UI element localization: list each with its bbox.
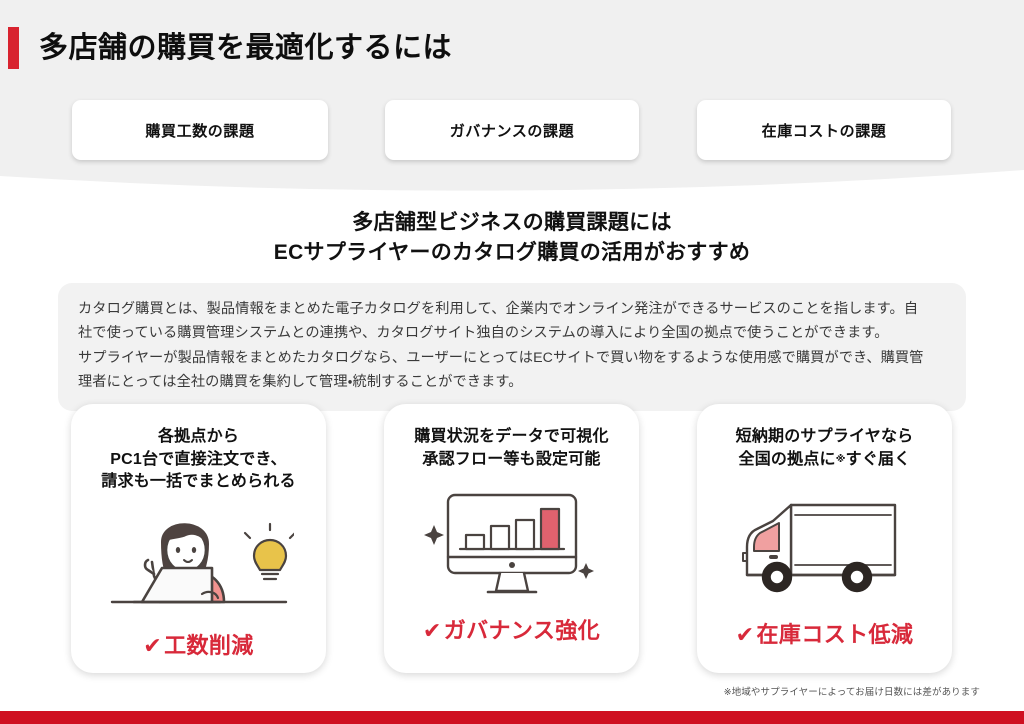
card-heading: 各拠点から PC1台で直接注文でき、 請求も一括でまとめられる — [71, 426, 326, 494]
description-panel: カタログ購買とは、製品情報をまとめた電子カタログを利用して、企業内でオンライン発… — [58, 283, 966, 411]
delivery-truck-icon — [735, 491, 915, 603]
card-footer-label: ガバナンス強化 — [444, 618, 600, 643]
description-line-3: サプライヤーが製品情報をまとめたカタログなら、ユーザーにとってはECサイトで買い… — [78, 346, 946, 370]
footnote-text: ※地域やサプライヤーによってお届け日数には差があります — [724, 684, 980, 698]
page-title: 多店舗の購買を最適化するには — [39, 34, 452, 63]
description-text: カタログ購買とは、製品情報をまとめた電子カタログを利用して、企業内でオンライン発… — [78, 297, 946, 395]
red-accent-bar-icon — [8, 27, 19, 69]
benefit-card-governance[interactable]: 購買状況をデータで可視化 承認フロー等も設定可能 — [384, 404, 639, 673]
card-footer-result: ✔ガバナンス強化 — [384, 613, 639, 645]
page-header: 多店舗の購買を最適化するには — [0, 26, 452, 70]
slide-root: 多店舗の購買を最適化するには 購買工数の課題 ガバナンスの課題 在庫コストの課題… — [0, 0, 1024, 724]
pill-label: 在庫コストの課題 — [762, 120, 887, 141]
subtitle-line-1: 多店舗型ビジネスの購買課題には — [0, 208, 1024, 238]
card-footer-label: 工数削減 — [164, 633, 254, 658]
desktop-monitor-bar-chart-icon — [422, 485, 602, 605]
card-footer-result: ✔在庫コスト低減 — [697, 617, 952, 649]
description-line-1: カタログ購買とは、製品情報をまとめた電子カタログを利用して、企業内でオンライン発… — [78, 297, 946, 321]
card-footer-result: ✔工数削減 — [71, 628, 326, 660]
check-icon: ✔ — [423, 618, 442, 643]
subtitle-line-2: ECサプライヤーのカタログ購買の活用がおすすめ — [0, 238, 1024, 268]
card-footer-label: 在庫コスト低減 — [757, 622, 914, 647]
pill-button-inventory-cost[interactable]: 在庫コストの課題 — [697, 100, 951, 160]
pill-button-purchasing-workload[interactable]: 購買工数の課題 — [72, 100, 328, 160]
card-heading: 購買状況をデータで可視化 承認フロー等も設定可能 — [384, 426, 639, 471]
person-at-laptop-with-lightbulb-icon — [104, 498, 294, 626]
benefit-card-inventory-cost[interactable]: 短納期のサプライヤなら 全国の拠点に※すぐ届く — [697, 404, 952, 673]
bottom-red-bar — [0, 711, 1024, 724]
benefit-card-workload[interactable]: 各拠点から PC1台で直接注文でき、 請求も一括でまとめられる — [71, 404, 326, 673]
section-subtitle: 多店舗型ビジネスの購買課題には ECサプライヤーのカタログ購買の活用がおすすめ — [0, 208, 1024, 269]
card-heading-line-2: 承認フロー等も設定可能 — [384, 449, 639, 472]
check-icon: ✔ — [736, 622, 755, 647]
card-heading-line-1: 購買状況をデータで可視化 — [384, 426, 639, 449]
card-heading-line-1: 各拠点から — [71, 426, 326, 449]
card-heading: 短納期のサプライヤなら 全国の拠点に※すぐ届く — [697, 426, 952, 471]
description-line-4: 理者にとっては全社の購買を集約して管理・統制することができます。 — [78, 370, 946, 394]
card-heading-line-2-text-a: 全国の拠点に — [739, 451, 836, 468]
reference-mark-icon: ※ — [836, 454, 846, 465]
pill-button-governance[interactable]: ガバナンスの課題 — [385, 100, 639, 160]
card-illustration — [384, 485, 639, 605]
card-heading-line-2: 全国の拠点に※すぐ届く — [697, 449, 952, 472]
challenge-pill-row: 購買工数の課題 ガバナンスの課題 在庫コストの課題 — [0, 100, 1024, 162]
sparkle-icon — [578, 563, 594, 579]
card-heading-line-1: 短納期のサプライヤなら — [697, 426, 952, 449]
description-line-2: 社で使っている購買管理システムとの連携や、カタログサイト独自のシステムの導入によ… — [78, 321, 946, 345]
pill-label: 購買工数の課題 — [145, 120, 254, 141]
check-icon: ✔ — [143, 633, 162, 658]
card-illustration — [71, 498, 326, 626]
pill-label: ガバナンスの課題 — [450, 120, 575, 141]
card-heading-line-2-text-b: すぐ届く — [846, 451, 911, 468]
card-heading-line-2: PC1台で直接注文でき、 — [71, 449, 326, 472]
sparkle-icon — [424, 525, 444, 545]
card-illustration — [697, 489, 952, 605]
card-heading-line-3: 請求も一括でまとめられる — [71, 471, 326, 494]
